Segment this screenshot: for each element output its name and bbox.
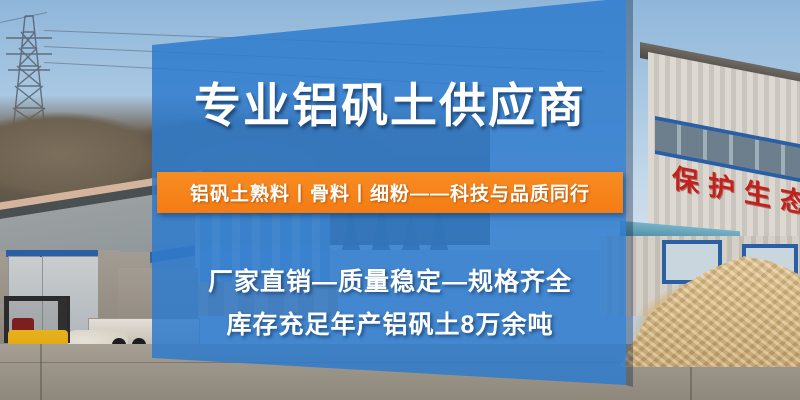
subheadline-1: 厂家直销—质量稳定—规格齐全	[152, 262, 628, 298]
banner-content: 专业铝矾土供应商 铝矾土熟料丨骨料丨细粉——科技与品质同行 厂家直销—质量稳定—…	[152, 0, 628, 400]
ground-seam	[40, 344, 42, 400]
bauxite-supplier-banner: 保护生态 专业铝矾土供应商 铝矾土熟料丨骨料丨细粉——科技与品质同行 厂家直销—…	[0, 0, 800, 400]
tagline-ribbon: 铝矾土熟料丨骨料丨细粉——科技与品质同行	[157, 172, 623, 213]
subheadline-2: 库存充足年产铝矾土8万余吨	[152, 305, 628, 341]
page-title: 专业铝矾土供应商	[152, 82, 628, 129]
tagline-ribbon-text: 铝矾土熟料丨骨料丨细粉——科技与品质同行	[190, 179, 590, 206]
